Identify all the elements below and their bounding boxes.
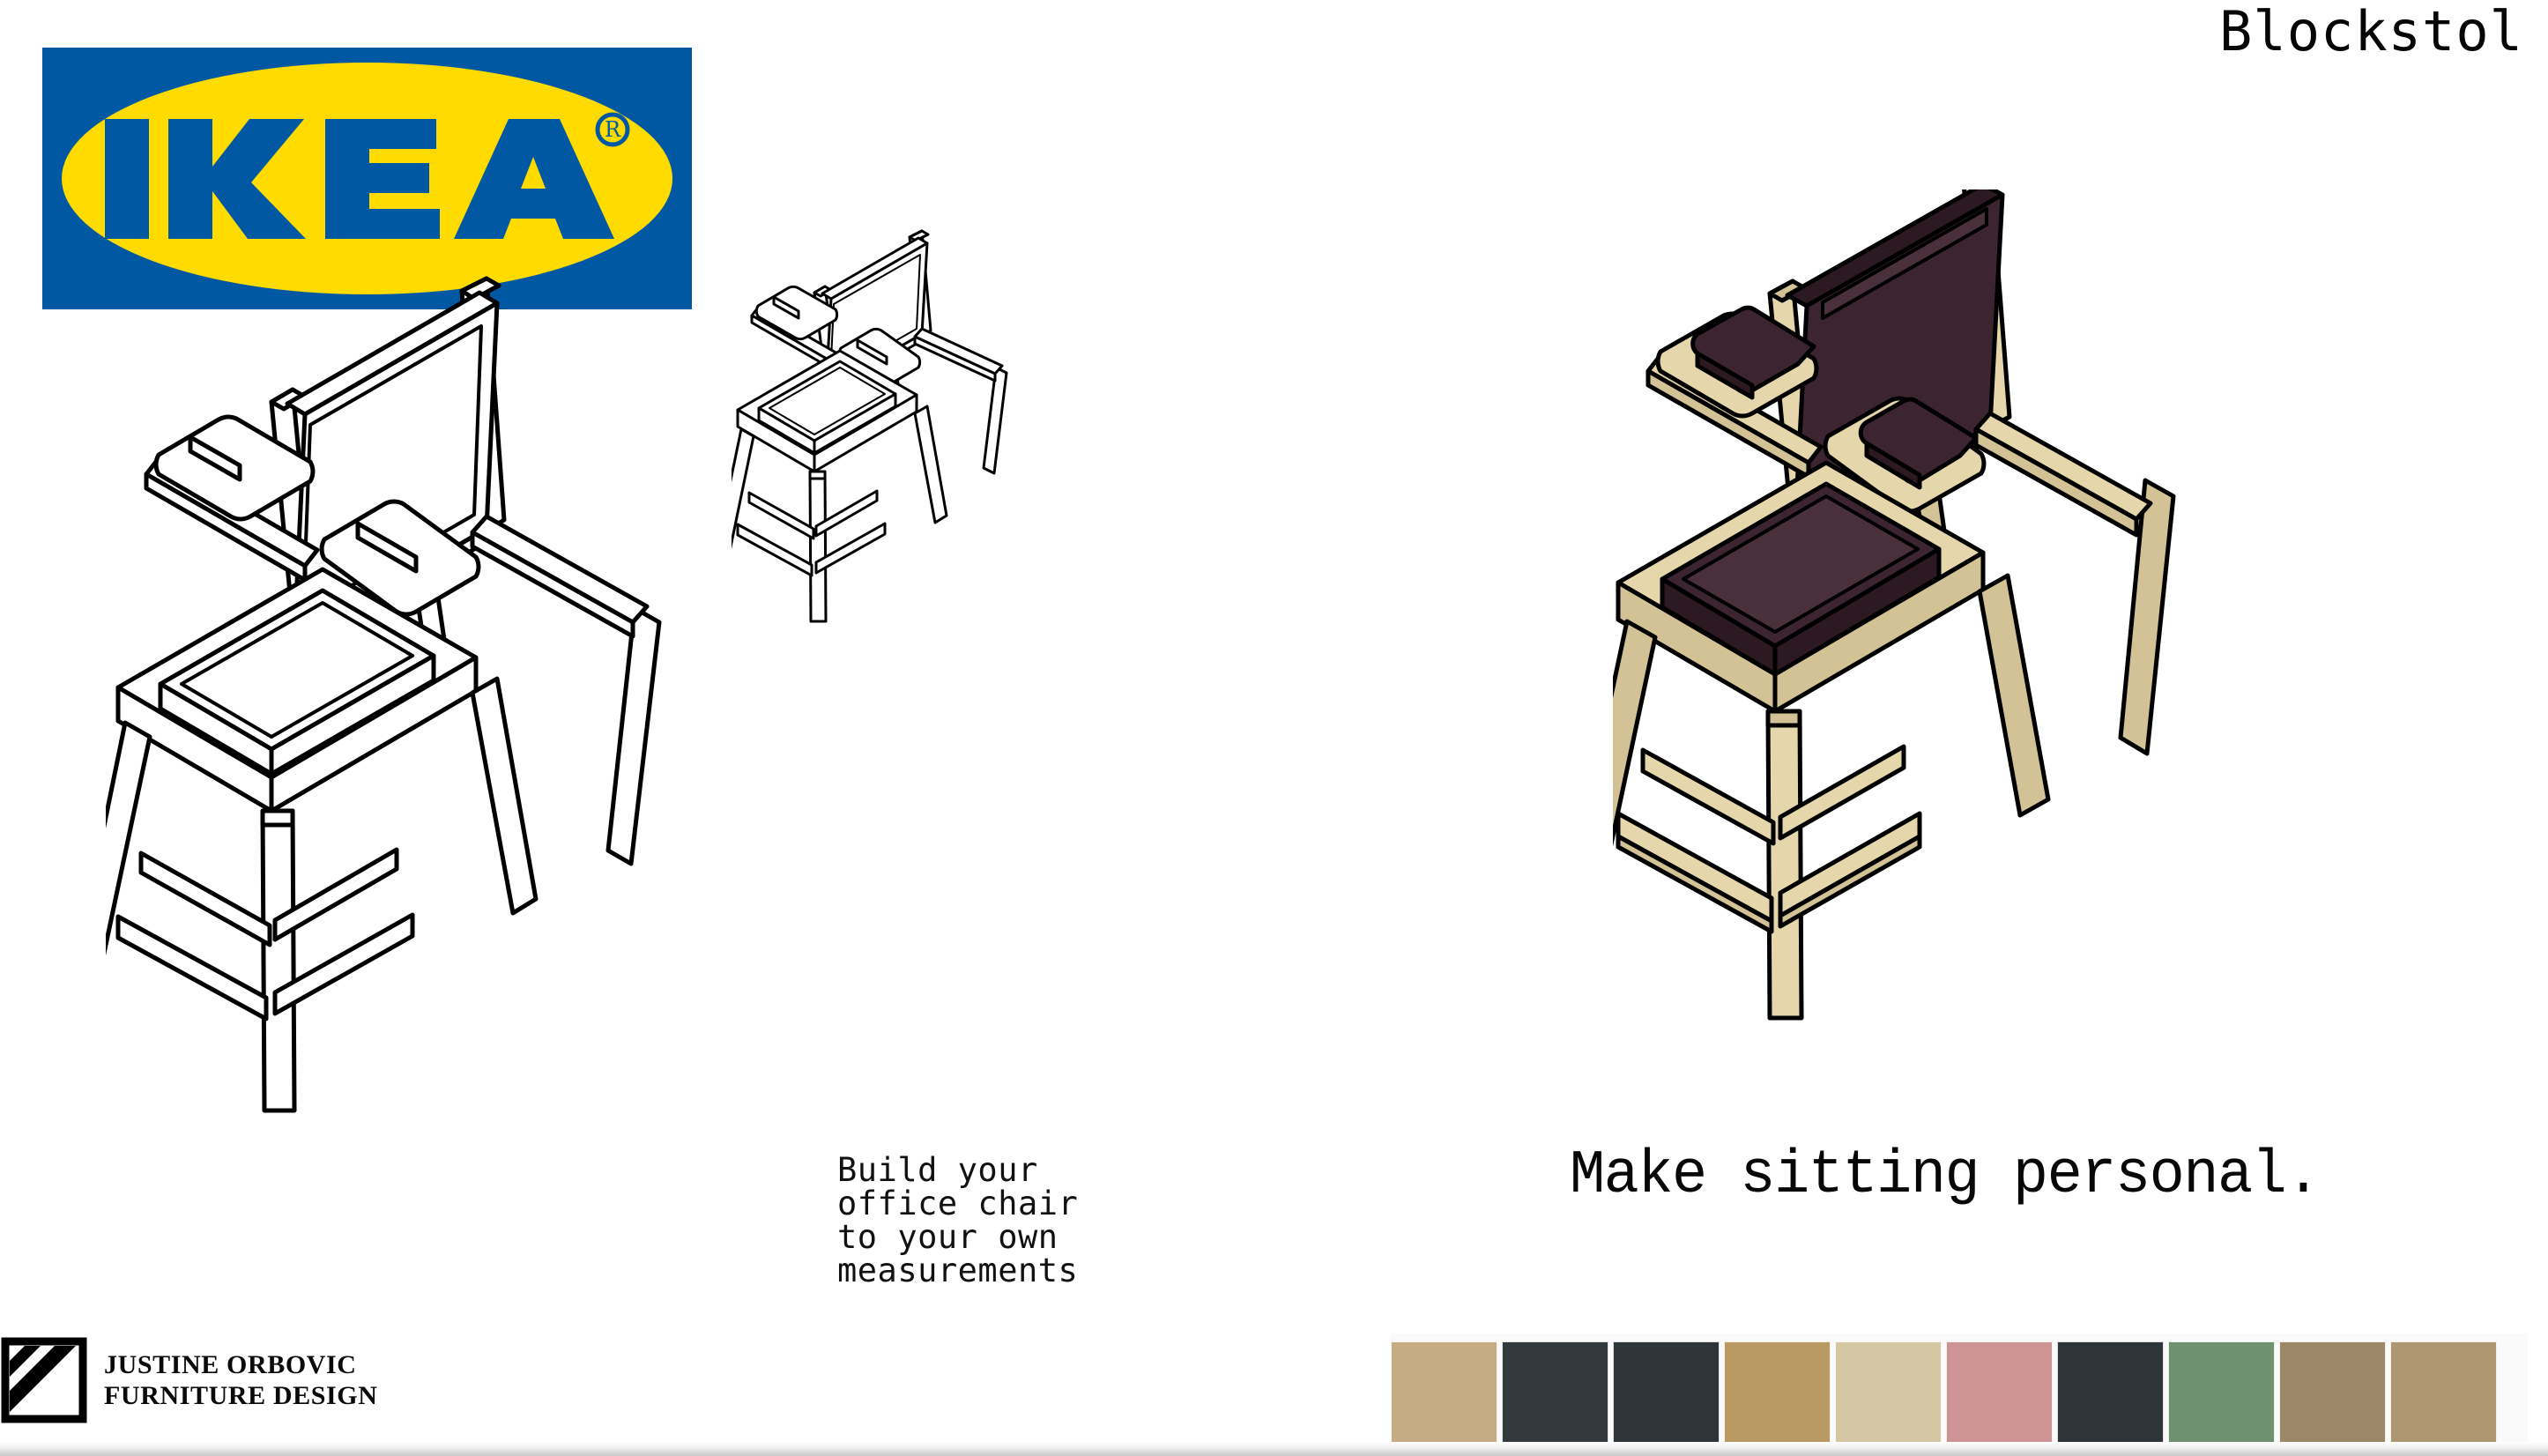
build-description: Build your office chair to your own meas… [837, 1154, 1078, 1288]
page-bottom-edge [0, 1442, 2548, 1456]
registered-trademark-icon: R [598, 115, 628, 145]
svg-text:R: R [604, 117, 620, 142]
page-title: Blockstol [2219, 2, 2523, 62]
designer-name: JUSTINE ORBOVIC FURNITURE DESIGN [104, 1349, 377, 1411]
designer-line-2: FURNITURE DESIGN [104, 1380, 377, 1411]
designer-credit: JUSTINE ORBOVIC FURNITURE DESIGN [0, 1336, 377, 1424]
swatch-sage-green[interactable] [2168, 1341, 2275, 1444]
swatch-warm-tan[interactable] [1391, 1341, 1497, 1444]
swatch-deep-charcoal[interactable] [2057, 1341, 2164, 1444]
blurb-line-4: measurements [837, 1254, 1078, 1288]
tagline: Make sitting personal. [1570, 1141, 2320, 1211]
blurb-line-2: office chair [837, 1187, 1078, 1221]
color-swatch-strip [1391, 1333, 2528, 1444]
blurb-line-1: Build your [837, 1154, 1078, 1187]
swatch-khaki-tan[interactable] [2390, 1341, 2497, 1444]
hatched-square-logo-icon [0, 1336, 88, 1424]
designer-line-1: JUSTINE ORBOVIC [104, 1349, 377, 1380]
swatch-charcoal[interactable] [1502, 1341, 1608, 1444]
chair-illustration-outline-large [106, 194, 776, 1269]
swatch-muted-brown[interactable] [2279, 1341, 2386, 1444]
swatch-sand-beige[interactable] [1835, 1341, 1942, 1444]
swatch-golden-ochre[interactable] [1724, 1341, 1831, 1444]
swatch-dusty-rose[interactable] [1946, 1341, 2053, 1444]
blurb-line-3: to your own [837, 1221, 1078, 1254]
chair-illustration-outline-small [732, 198, 1066, 639]
chair-illustration-colored: .fr { fill:#E5D7AB; stroke:#000; stroke-… [1613, 189, 2292, 1150]
swatch-charcoal-2[interactable] [1613, 1341, 1720, 1444]
